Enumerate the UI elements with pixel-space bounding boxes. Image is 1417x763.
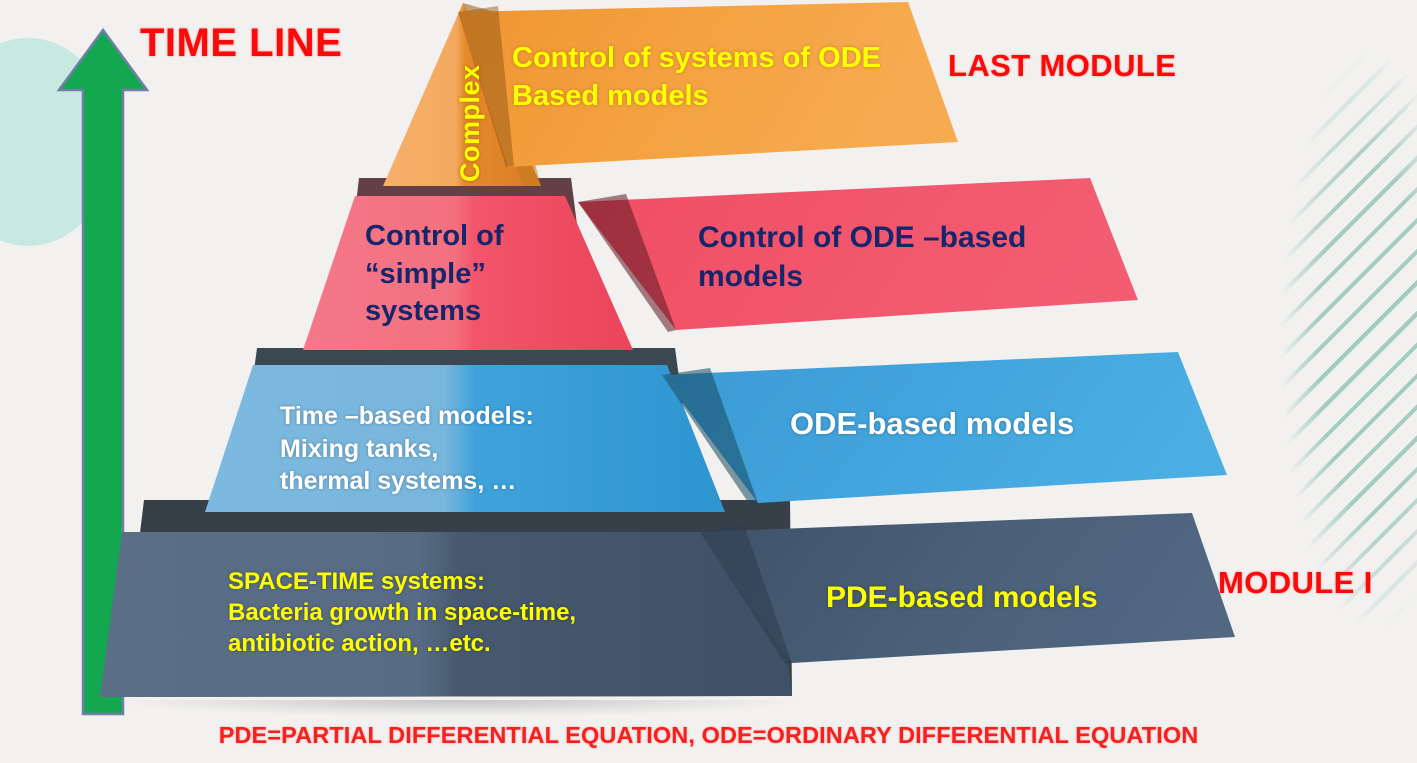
pyramid-tier-label-control-simple-systems: Control of “simple” systems [365, 218, 575, 331]
slide-canvas: TIME LINE LAST MODULE MODULE I SPACE-TIM… [0, 0, 1417, 763]
pyramid-diagram: SPACE-TIME systems: Bacteria growth in s… [0, 0, 1417, 763]
pyramid-tier-label-time-based-models: Time –based models: Mixing tanks, therma… [280, 400, 610, 498]
callout-label-ode-based-models: ODE-based models [790, 404, 1220, 444]
callout-label-control-ode-based-models: Control of ODE –based models [698, 218, 1128, 296]
callout-label-control-systems-of-ode: Control of systems of ODE Based models [512, 40, 952, 115]
footer-legend: PDE=PARTIAL DIFFERENTIAL EQUATION, ODE=O… [0, 722, 1417, 749]
pyramid-tier-label-space-time-systems: SPACE-TIME systems: Bacteria growth in s… [228, 566, 628, 660]
callout-label-pde-based-models: PDE-based models [826, 578, 1246, 617]
pyramid-axis-label-complex: Complex [455, 64, 486, 182]
